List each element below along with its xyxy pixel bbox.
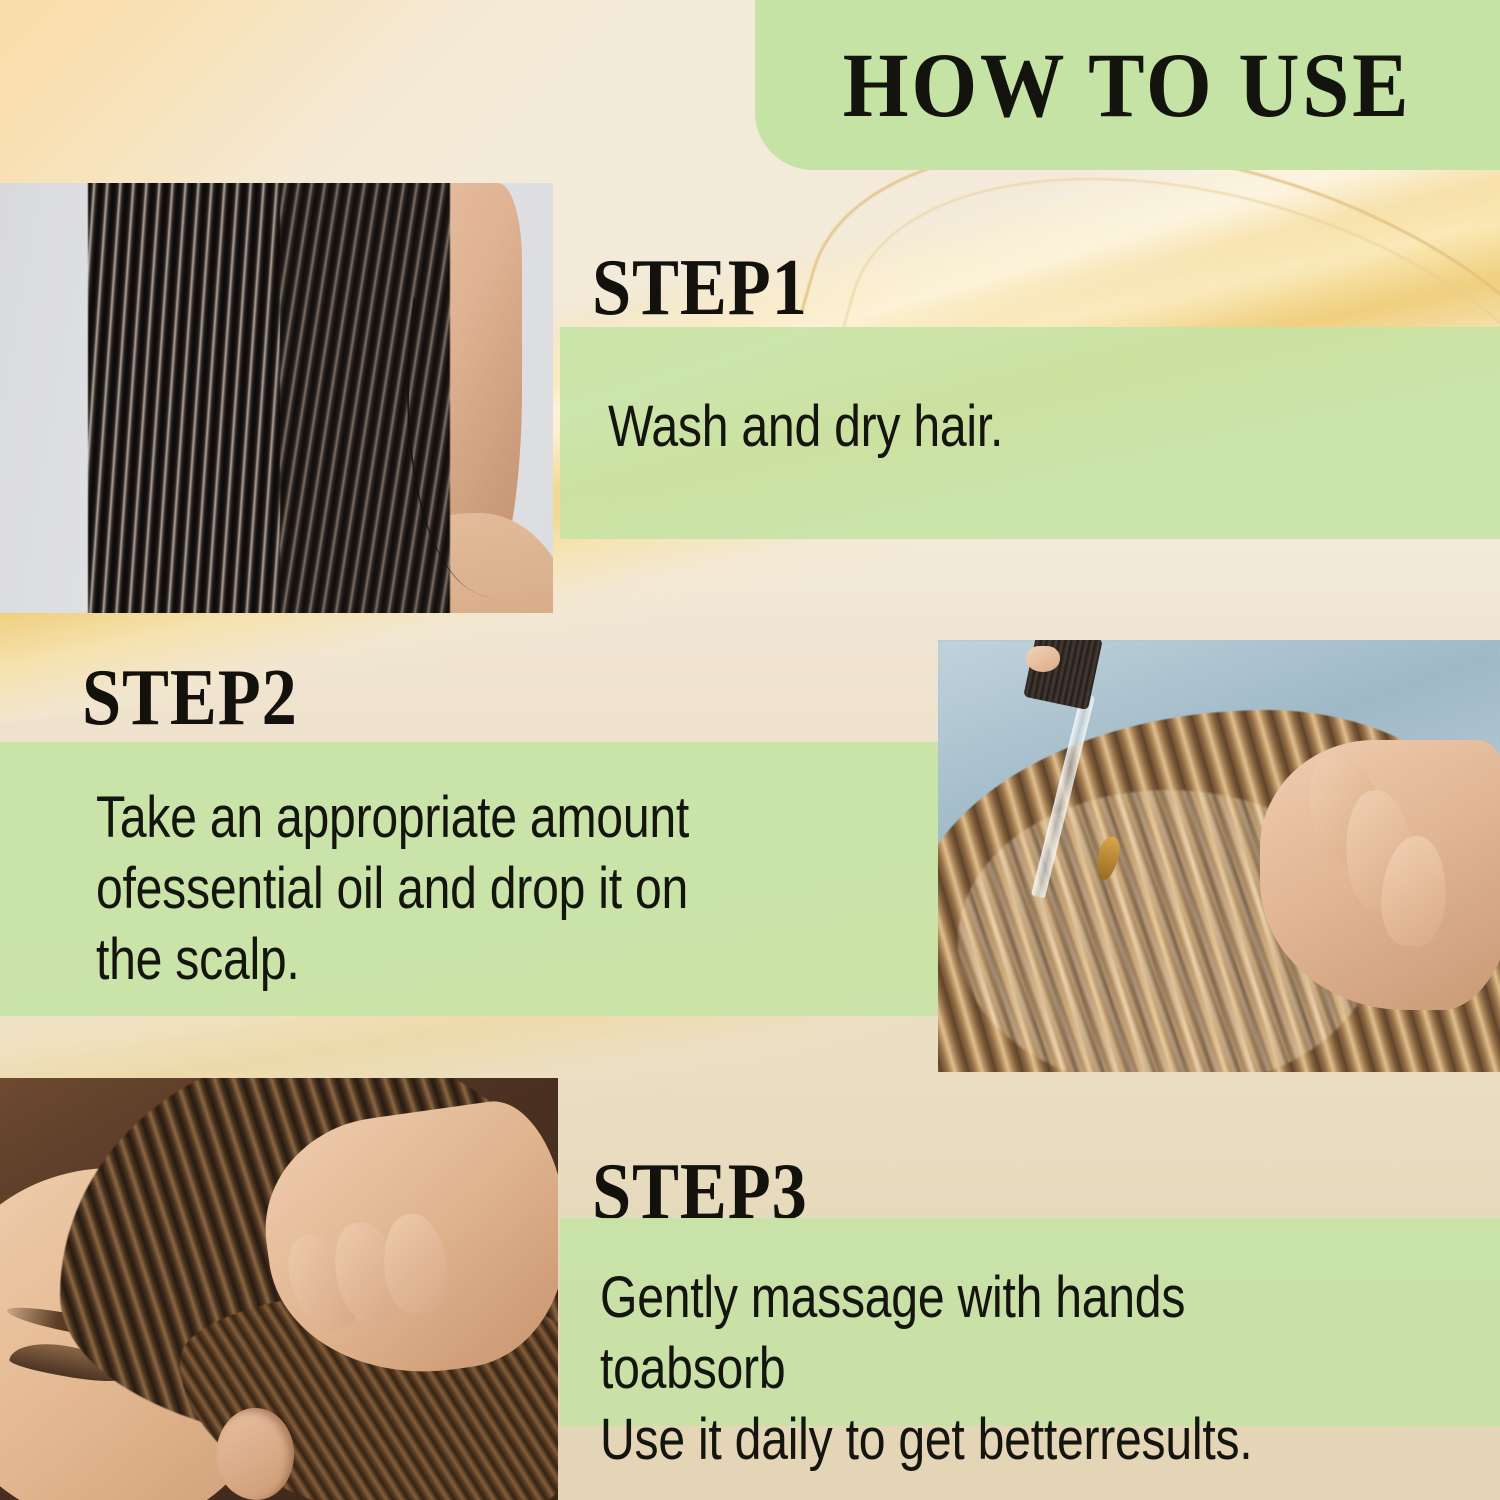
step1-label: STEP1 <box>592 248 808 328</box>
poster-canvas: HOW TO USE STEP1 Wash and dry hair. STEP… <box>0 0 1500 1500</box>
step3-body-text: Gently massage with hands toabsorb Use i… <box>600 1263 1347 1475</box>
page-title: HOW TO USE <box>843 39 1412 131</box>
step2-body-text: Take an appropriate amount ofessential o… <box>96 783 689 995</box>
step1-body-text: Wash and dry hair. <box>608 392 1003 463</box>
header-banner: HOW TO USE <box>755 0 1500 170</box>
step3-photo <box>0 1078 558 1500</box>
model-ear <box>216 1408 294 1500</box>
step2-label: STEP2 <box>82 658 298 738</box>
massaging-fingers <box>292 1226 472 1346</box>
step1-photo <box>0 183 553 613</box>
thumb <box>1026 646 1060 672</box>
step2-photo <box>938 640 1500 1072</box>
